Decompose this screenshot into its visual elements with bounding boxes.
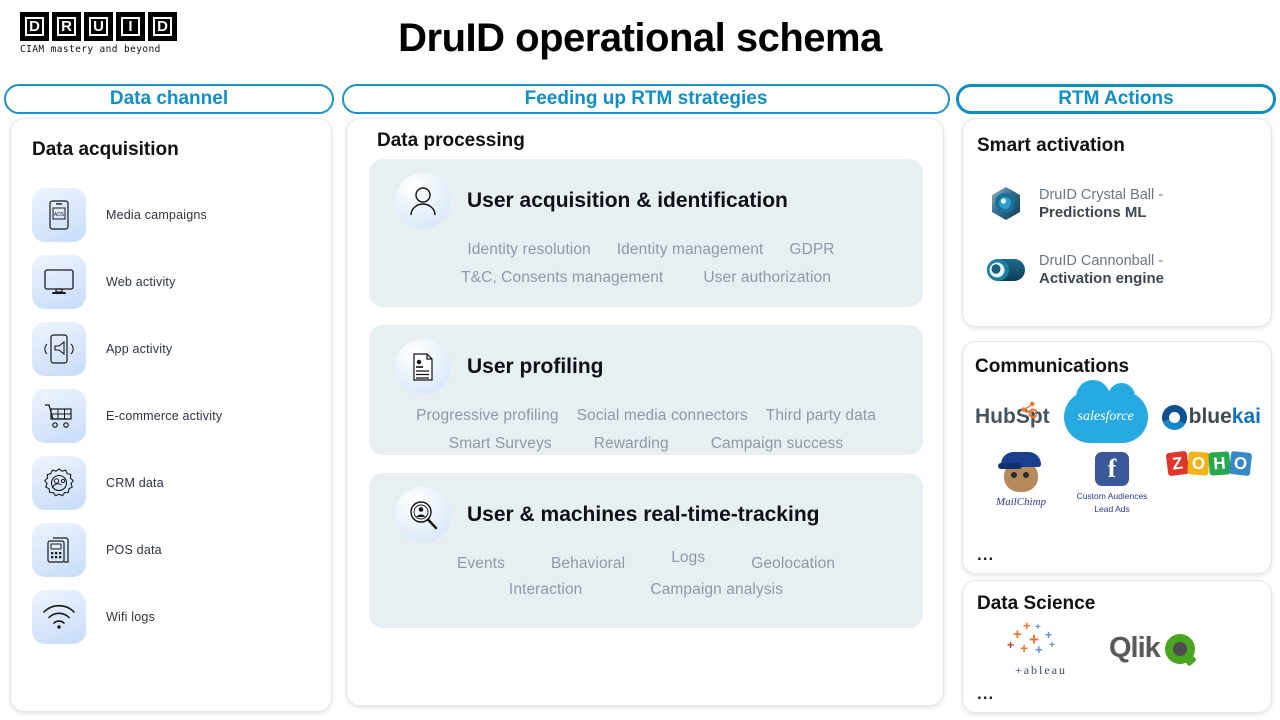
hubspot-sprocket-icon (1020, 401, 1037, 420)
item-line1: DruID Cannonball - (1039, 252, 1164, 270)
list-item-label: POS data (106, 543, 162, 557)
mobile-ad-icon: ADS (32, 188, 86, 242)
zoho-letter-0: Z (1166, 451, 1190, 476)
schema-page: D R U I D CIAM mastery and beyond DruID … (0, 0, 1280, 720)
list-item[interactable]: Wifi logs (32, 589, 322, 645)
column-header-feeding-rtm[interactable]: Feeding up RTM strategies (342, 84, 950, 114)
facebook-logo[interactable]: f Custom Audiences Lead Ads (1064, 452, 1160, 516)
column-header-rtm-actions[interactable]: RTM Actions (956, 84, 1276, 114)
monitor-icon (32, 255, 86, 309)
column-header-data-channel[interactable]: Data channel (4, 84, 334, 114)
profile-document-icon (395, 339, 451, 395)
facebook-caption-line1: Custom Audiences (1064, 490, 1160, 503)
pos-terminal-icon (32, 523, 86, 577)
list-item[interactable]: CRM data (32, 455, 322, 511)
qlik-q-icon (1165, 634, 1195, 664)
logo-row: MailChimp f Custom Audiences Lead Ads Z … (971, 452, 1265, 522)
list-item[interactable]: E-commerce activity (32, 388, 322, 444)
panel-data-science: Data Science + + + + + + + + + +ableau Q… (962, 580, 1272, 713)
list-item[interactable]: POS data (32, 522, 322, 578)
facebook-caption: Custom Audiences Lead Ads (1064, 490, 1160, 516)
tag: T&C, Consents management (461, 269, 663, 287)
bluekai-swirl-icon (1162, 405, 1187, 430)
list-item-label: E-commerce activity (106, 409, 222, 423)
salesforce-text: salesforce (1078, 409, 1134, 425)
tag-row: Events Behavioral Logs Geolocation (369, 555, 923, 573)
section-header: User acquisition & identification (369, 159, 923, 229)
mailchimp-logo[interactable]: MailChimp (985, 452, 1057, 508)
zoho-logo[interactable]: Z O H O (1167, 452, 1251, 475)
data-science-title: Data Science (977, 593, 1095, 615)
page-title: DruID operational schema (0, 16, 1280, 61)
tag: Interaction (509, 581, 582, 599)
tag: Social media connectors (577, 407, 748, 425)
zoho-letter-1: O (1187, 451, 1210, 475)
tag-row: Progressive profiling Social media conne… (369, 407, 923, 425)
section-tags: Identity resolution Identity management … (369, 241, 923, 287)
item-line2: Activation engine (1039, 270, 1164, 289)
section-tags: Progressive profiling Social media conne… (369, 407, 923, 453)
bluekai-logo[interactable]: bluekai (1162, 405, 1261, 430)
data-science-logo-row: + + + + + + + + + +ableau Qlik (989, 619, 1251, 678)
tag: GDPR (789, 241, 834, 259)
item-line2: Predictions ML (1039, 204, 1163, 223)
item-line1: DruID Crystal Ball - (1039, 186, 1163, 204)
section-real-time-tracking[interactable]: User & machines real-time-tracking Event… (369, 473, 923, 628)
tag-row: T&C, Consents management User authorizat… (369, 269, 923, 287)
crystal-ball-icon (983, 181, 1029, 227)
item-text: DruID Cannonball - Activation engine (1039, 252, 1164, 289)
section-header: User profiling (369, 325, 923, 395)
list-item[interactable]: DruID Crystal Ball - Predictions ML (983, 181, 1163, 227)
tableau-logo[interactable]: + + + + + + + + + +ableau (989, 619, 1093, 678)
data-science-more[interactable]: ... (977, 684, 994, 704)
communications-title: Communications (975, 356, 1129, 378)
list-item-label: Media campaigns (106, 208, 207, 222)
tag: Rewarding (594, 435, 669, 453)
section-title: User & machines real-time-tracking (467, 503, 819, 527)
salesforce-logo[interactable]: salesforce (1064, 391, 1148, 443)
logo-row: HubSpt salesforce bluekai (971, 386, 1265, 448)
svg-text:ADS: ADS (54, 212, 65, 218)
wifi-icon (32, 590, 86, 644)
tableau-marks-icon: + + + + + + + + + (989, 619, 1093, 663)
tag-row: Identity resolution Identity management … (369, 241, 923, 259)
section-user-acquisition[interactable]: User acquisition & identification Identi… (369, 159, 923, 307)
zoho-letter-2: H (1208, 451, 1231, 475)
list-item[interactable]: DruID Cannonball - Activation engine (983, 247, 1164, 293)
hubspot-logo[interactable]: HubSpt (975, 405, 1050, 429)
shopping-cart-icon (32, 389, 86, 443)
item-text: DruID Crystal Ball - Predictions ML (1039, 186, 1163, 223)
app-megaphone-icon (32, 322, 86, 376)
tag: Identity management (617, 241, 764, 259)
tag: Smart Surveys (449, 435, 552, 453)
person-icon (395, 173, 451, 229)
panel-data-processing: Data processing User acquisition & ident… (346, 118, 944, 706)
tag-row: Interaction Campaign analysis (369, 581, 923, 599)
hubspot-text-end: t (1043, 405, 1050, 428)
header: D R U I D CIAM mastery and beyond DruID … (0, 0, 1280, 78)
data-acquisition-list: ADS Media campaigns Web activity App act… (32, 187, 322, 656)
tag: Third party data (766, 407, 876, 425)
mailchimp-monkey-icon (1000, 452, 1042, 494)
magnifier-user-icon (395, 487, 451, 543)
tag: Logs (671, 549, 705, 567)
bluekai-text: blue (1189, 405, 1232, 429)
zoho-letter-3: O (1229, 451, 1252, 476)
facebook-caption-line2: Lead Ads (1064, 503, 1160, 516)
list-item[interactable]: App activity (32, 321, 322, 377)
data-acquisition-title: Data acquisition (32, 139, 179, 161)
list-item-label: CRM data (106, 476, 164, 490)
cannonball-icon (983, 247, 1029, 293)
panel-data-acquisition: Data acquisition ADS Media campaigns Web… (10, 118, 332, 712)
tag: User authorization (703, 269, 831, 287)
list-item-label: Web activity (106, 275, 176, 289)
gear-crm-icon (32, 456, 86, 510)
list-item-label: Wifi logs (106, 610, 155, 624)
list-item-label: App activity (106, 342, 172, 356)
panel-smart-activation: Smart activation DruID Crystal Ball - Pr… (962, 118, 1272, 327)
data-processing-title: Data processing (377, 130, 525, 152)
tag: Campaign success (711, 435, 844, 453)
tag: Geolocation (751, 555, 835, 573)
list-item[interactable]: Web activity (32, 254, 322, 310)
facebook-f-icon: f (1095, 452, 1129, 486)
list-item[interactable]: ADS Media campaigns (32, 187, 322, 243)
bluekai-text-end: kai (1232, 405, 1261, 429)
section-header: User & machines real-time-tracking (369, 473, 923, 543)
smart-activation-title: Smart activation (977, 135, 1125, 157)
mailchimp-text: MailChimp (985, 496, 1057, 508)
tag-row: Smart Surveys Rewarding Campaign success (369, 435, 923, 453)
section-title: User profiling (467, 355, 604, 379)
qlik-logo[interactable]: Qlik (1109, 632, 1195, 665)
section-user-profiling[interactable]: User profiling Progressive profiling Soc… (369, 325, 923, 455)
tag: Campaign analysis (650, 581, 783, 599)
section-tags: Events Behavioral Logs Geolocation Inter… (369, 555, 923, 599)
tag: Identity resolution (467, 241, 590, 259)
tag: Events (457, 555, 505, 573)
qlik-text: Qlik (1109, 632, 1160, 665)
communications-more[interactable]: ... (977, 545, 994, 565)
tag: Progressive profiling (416, 407, 559, 425)
panel-communications: Communications HubSpt salesforce bluekai (962, 341, 1272, 574)
section-title: User acquisition & identification (467, 189, 788, 213)
tableau-text: +ableau (989, 663, 1093, 678)
communications-logo-grid: HubSpt salesforce bluekai (971, 386, 1265, 522)
tag: Behavioral (551, 555, 625, 573)
